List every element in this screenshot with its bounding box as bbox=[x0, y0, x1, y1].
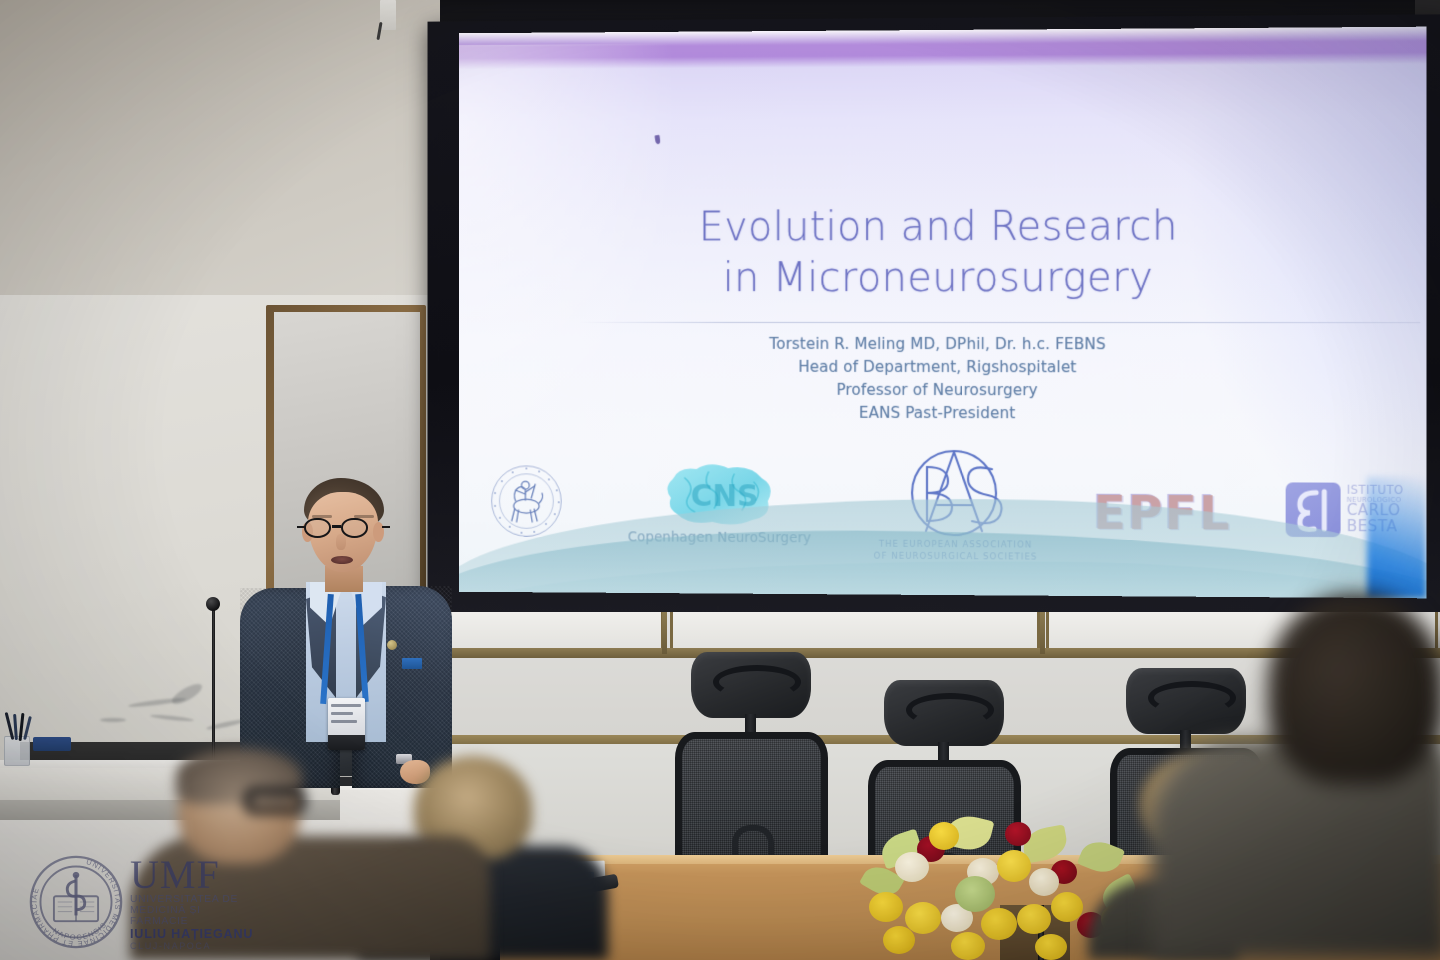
umf-acronym: UMF bbox=[130, 856, 260, 894]
slide-blue-accent bbox=[1367, 477, 1426, 599]
slide-title: Evolution and Research in Microneurosurg… bbox=[459, 201, 1426, 304]
audience-glasses-icon bbox=[244, 788, 306, 814]
umf-line-1: UNIVERSITATEA DE bbox=[130, 894, 260, 905]
presentation-slide: Evolution and Research in Microneurosurg… bbox=[459, 27, 1426, 599]
wall-panel-divider bbox=[1040, 612, 1045, 654]
umf-watermark: UNIVERSITAS MEDICINAE ET PHARMACIAE NAPO… bbox=[10, 846, 260, 954]
presenter-lapel-pin bbox=[387, 640, 397, 650]
presenter-pocket-tag bbox=[402, 658, 422, 669]
umf-line-2: MEDICINĂ ȘI FARMACIE bbox=[130, 905, 260, 927]
umf-line-4: CLUJ-NAPOCA bbox=[130, 941, 260, 951]
slide-subtitle-line-1: Torstein R. Meling MD, DPhil, Dr. h.c. F… bbox=[459, 333, 1426, 357]
slide-title-line-1: Evolution and Research bbox=[459, 201, 1426, 254]
wall-panel bbox=[670, 612, 1040, 652]
presenter-conference-badge bbox=[328, 698, 365, 750]
presenter-nose bbox=[336, 534, 346, 550]
gooseneck-microphone-stem[interactable] bbox=[212, 600, 215, 760]
gooseneck-microphone-head[interactable] bbox=[206, 597, 220, 611]
whiteboard-eraser[interactable] bbox=[33, 737, 71, 751]
pen-cup[interactable] bbox=[4, 736, 30, 766]
presenter-mouth bbox=[331, 556, 353, 564]
slide-subtitle-line-3: Professor of Neurosurgery bbox=[459, 378, 1426, 403]
upper-wall bbox=[0, 0, 440, 300]
wall-fixture bbox=[380, 0, 396, 30]
university-of-copenhagen-seal-icon bbox=[491, 465, 562, 537]
umf-seal-icon: UNIVERSITAS MEDICINAE ET PHARMACIAE NAPO… bbox=[28, 854, 124, 950]
centaur-icon bbox=[503, 476, 550, 526]
wall-panel-divider bbox=[662, 612, 667, 654]
umf-line-3: IULIU HAȚIEGANU bbox=[130, 927, 260, 941]
whiteboard-smudge bbox=[100, 718, 126, 722]
slide-subtitle-line-4: EANS Past-President bbox=[459, 401, 1426, 426]
slide-subtitle-line-2: Head of Department, Rigshospitalet bbox=[459, 356, 1426, 380]
audience-member-foreground-far-right bbox=[1268, 594, 1440, 784]
slide-title-line-2: in Microneurosurgery bbox=[459, 252, 1426, 304]
umf-watermark-text: UMF UNIVERSITATEA DE MEDICINĂ ȘI FARMACI… bbox=[130, 856, 260, 951]
slide-subtitle: Torstein R. Meling MD, DPhil, Dr. h.c. F… bbox=[459, 333, 1426, 427]
slide-divider bbox=[578, 322, 1420, 323]
wall-panel bbox=[434, 612, 664, 652]
lecture-hall-photo: Evolution and Research in Microneurosurg… bbox=[0, 0, 1440, 960]
